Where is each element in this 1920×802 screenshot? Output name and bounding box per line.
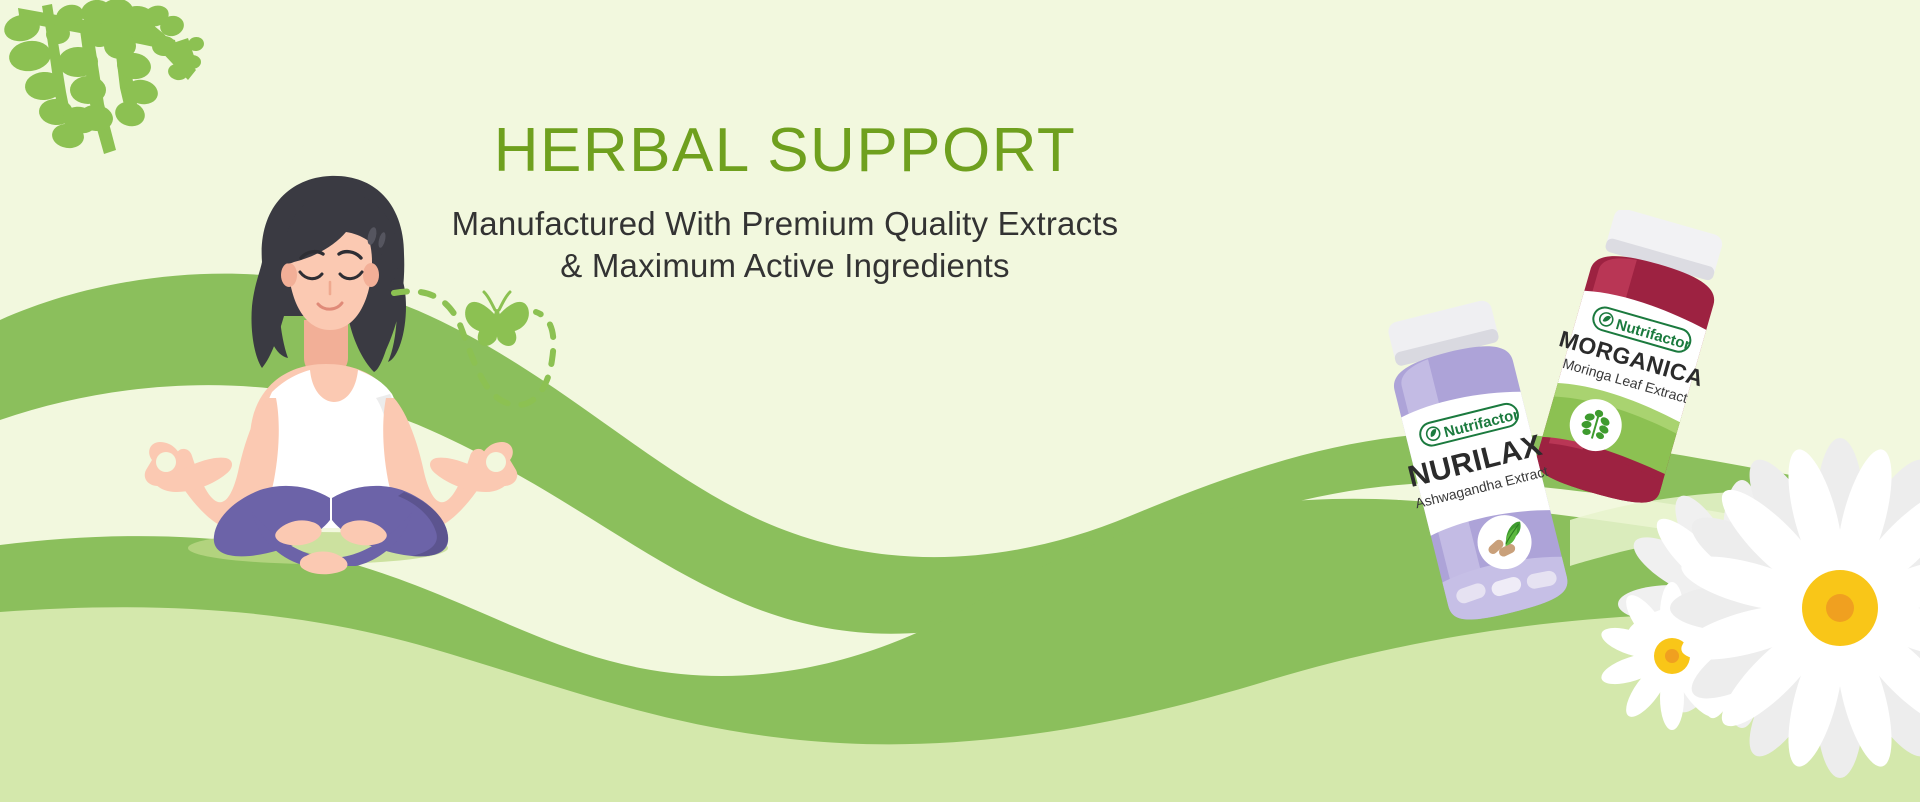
daisy-large-center-inner [1826, 594, 1854, 622]
daisy-small-center-inner [1665, 649, 1679, 663]
herbal-support-banner: Nutrifactor MORGANICA Moringa Leaf Extra… [0, 0, 1920, 802]
product-bottle-nurilax[interactable]: Nutrifactor NURILAX Ashwagandha Extract [1345, 295, 1605, 635]
nurilax-bottle-graphic[interactable]: Nutrifactor NURILAX Ashwagandha Extract [1345, 295, 1605, 635]
